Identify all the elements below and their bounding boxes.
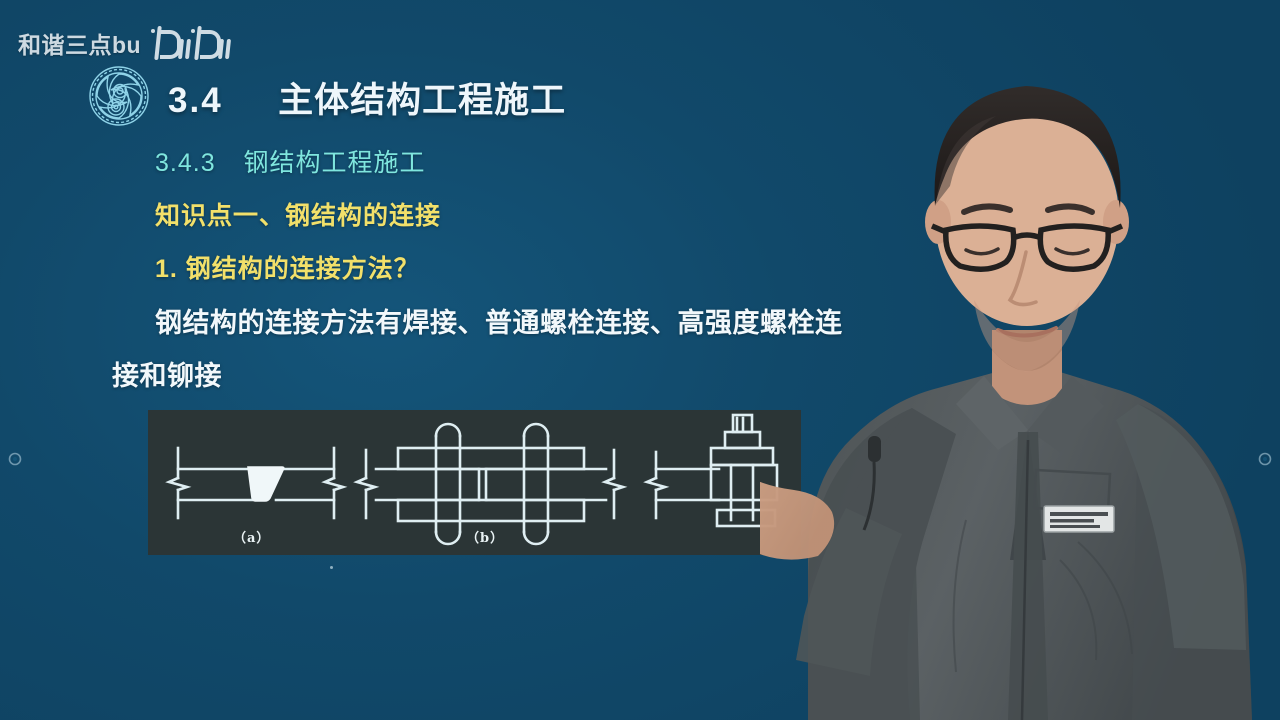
dust-speck — [330, 566, 333, 569]
bilibili-logo-icon — [151, 26, 230, 60]
subheading-text: 钢结构工程施工 — [244, 149, 426, 177]
title-text: 主体结构工程施工 — [278, 81, 566, 120]
page-title: 3.4 主体结构工程施工 — [168, 72, 566, 123]
section-subheading: 3.4.3 钢结构工程施工 — [155, 143, 426, 179]
steel-connection-diagrams — [148, 410, 671, 555]
edge-handle-icon-left[interactable] — [8, 452, 22, 466]
body-line-2: 接和铆接 — [112, 354, 222, 393]
edge-handle-icon-right[interactable] — [1258, 452, 1272, 466]
subheading-number: 3.4.3 — [155, 149, 216, 177]
uploader-name: 和谐三点bu — [18, 26, 141, 60]
title-number: 3.4 — [168, 81, 223, 120]
figure-caption-b: （b） — [466, 527, 504, 546]
spiral-emblem-icon — [87, 64, 151, 128]
knowledge-point-2: 1. 钢结构的连接方法？ — [155, 249, 420, 285]
slide-canvas: （a） （b） 3.4 主体结构工程施工 3.4.3 钢结构工程施工 知识点一、… — [0, 0, 1280, 720]
figure-panel — [148, 410, 671, 555]
body-line-1: 钢结构的连接方法有焊接、普通螺栓连接、高强度螺栓连 — [155, 301, 843, 340]
knowledge-point-1: 知识点一、钢结构的连接 — [155, 196, 441, 232]
presenter-video-overlay — [760, 0, 1280, 720]
uploader-watermark: 和谐三点bu — [18, 26, 230, 60]
presenter-figure — [760, 86, 1252, 720]
figure-caption-a: （a） — [233, 527, 270, 546]
